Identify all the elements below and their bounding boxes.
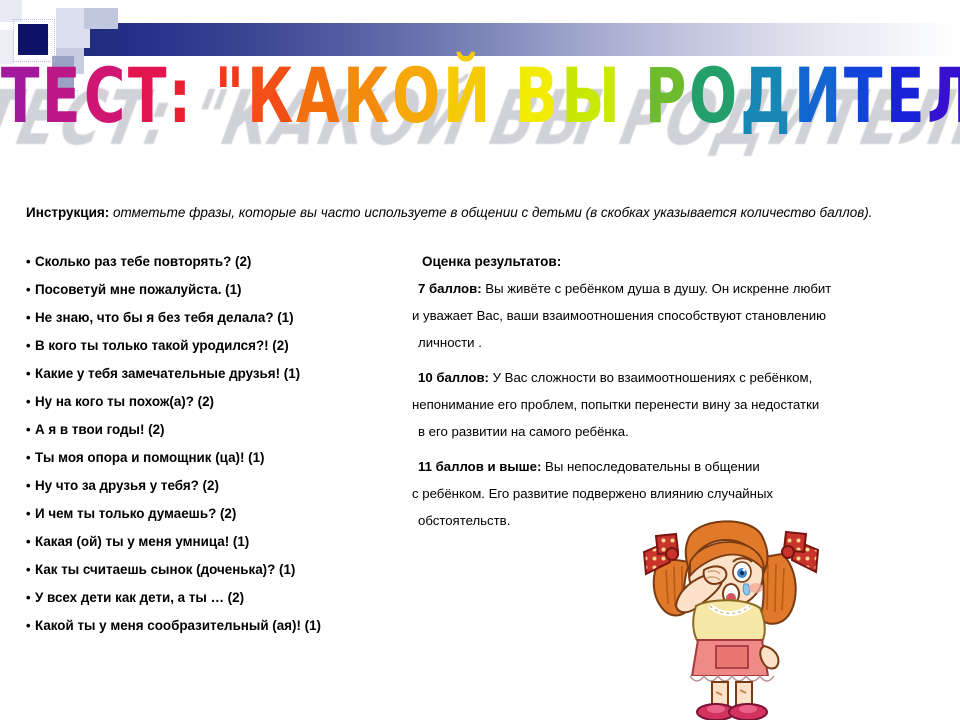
result-text: непонимание его проблем, попытки перенес… — [412, 397, 819, 412]
title-letter: Л — [927, 58, 960, 134]
tear — [743, 584, 750, 595]
question-item[interactable]: •Ну что за друзья у тебя? (2) — [26, 479, 426, 507]
bullet-icon: • — [26, 563, 35, 576]
bullet-icon: • — [26, 423, 35, 436]
title-letter: Ы — [561, 58, 621, 134]
question-text: И чем ты только думаешь? (2) — [35, 506, 236, 521]
banner-square-light-1 — [56, 8, 90, 48]
question-item[interactable]: •Сколько раз тебе повторять? (2) — [26, 255, 426, 283]
blush — [749, 583, 763, 593]
title-letter: К — [343, 58, 390, 134]
crying-girl-illustration — [632, 500, 832, 720]
bullet-icon: • — [26, 591, 35, 604]
bullet-icon: • — [26, 619, 35, 632]
title-letter: Р — [645, 58, 687, 134]
question-item[interactable]: •Не знаю, что бы я без тебя делала? (1) — [26, 311, 426, 339]
question-text: Ты моя опора и помощник (ца)! (1) — [35, 450, 265, 465]
bullet-icon: • — [26, 367, 35, 380]
bullet-icon: • — [26, 283, 35, 296]
result-text: в его развитии на самого ребёнка. — [418, 424, 629, 439]
title-letter — [493, 58, 514, 134]
instruction-paragraph: Инструкция: отметьте фразы, которые вы ч… — [26, 203, 926, 224]
question-text: Как ты считаешь сынок (доченька)? (1) — [35, 562, 295, 577]
result-line: личности . — [418, 336, 952, 363]
shirt — [693, 600, 765, 642]
title-letter: Д — [740, 58, 791, 134]
skirt-ruffle — [690, 676, 774, 681]
results-heading: Оценка результатов: — [422, 255, 952, 269]
question-list: •Сколько раз тебе повторять? (2)•Посовет… — [26, 255, 426, 647]
question-item[interactable]: •Какой ты у меня сообразительный (ая)! (… — [26, 619, 426, 647]
result-score-label: 7 баллов: — [418, 281, 482, 296]
question-item[interactable]: •Как ты считаешь сынок (доченька)? (1) — [26, 563, 426, 591]
title-letter: Т — [1, 58, 41, 134]
result-text: и уважает Вас, ваши взаимоотношения спос… — [412, 308, 826, 323]
question-item[interactable]: •А я в твои годы! (2) — [26, 423, 426, 451]
bullet-icon: • — [26, 311, 35, 324]
bullet-icon: • — [26, 339, 35, 352]
banner-square-pale-1 — [0, 0, 22, 22]
result-line: в его развитии на самого ребёнка. — [418, 425, 952, 452]
result-text: Вы непоследовательны в общении — [541, 459, 759, 474]
question-item[interactable]: •И чем ты только думаешь? (2) — [26, 507, 426, 535]
title-letter: Т — [128, 58, 168, 134]
bullet-icon: • — [26, 535, 35, 548]
question-text: Какая (ой) ты у меня умница! (1) — [35, 534, 249, 549]
title-letter: Е — [42, 58, 82, 134]
result-score-label: 11 баллов и выше: — [418, 459, 541, 474]
question-text: Ну на кого ты похож(а)? (2) — [35, 394, 214, 409]
bullet-icon: • — [26, 507, 35, 520]
question-item[interactable]: •Ты моя опора и помощник (ца)! (1) — [26, 451, 426, 479]
instruction-body: отметьте фразы, которые вы часто использ… — [109, 205, 872, 220]
bullet-icon: • — [26, 451, 35, 464]
question-item[interactable]: •Ну на кого ты похож(а)? (2) — [26, 395, 426, 423]
title-letter: Й — [443, 58, 491, 134]
title-letter — [193, 58, 214, 134]
title-letter: И — [794, 58, 842, 134]
page-title: ТЕСТ: "КАКОЙ ВЫ РОДИТЕЛЬ?" ТЕСТ: "КАКОЙ … — [0, 58, 960, 158]
question-item[interactable]: •В кого ты только такой уродился?! (2) — [26, 339, 426, 367]
result-text: Вы живёте с ребёнком душа в душу. Он иск… — [482, 281, 832, 296]
question-text: Ну что за друзья у тебя? (2) — [35, 478, 219, 493]
title-letter: Е — [885, 58, 925, 134]
question-item[interactable]: •Какие у тебя замечательные друзья! (1) — [26, 367, 426, 395]
skirt-pocket — [716, 646, 748, 668]
result-text: с ребёнком. Его развитие подвержено влия… — [412, 486, 773, 501]
result-text: У Вас сложности во взаимоотношениях с ре… — [489, 370, 812, 385]
title-letter — [623, 58, 644, 134]
title-letter: Т — [844, 58, 884, 134]
question-item[interactable]: •Посоветуй мне пожалуйста. (1) — [26, 283, 426, 311]
title-letter: О — [392, 58, 441, 134]
title-letter: О — [689, 58, 738, 134]
result-line: непонимание его проблем, попытки перенес… — [412, 398, 952, 425]
bullet-icon: • — [26, 479, 35, 492]
result-block: 7 баллов: Вы живёте с ребёнком душа в ду… — [412, 282, 952, 363]
result-score-label: 10 баллов: — [418, 370, 489, 385]
title-letter: " — [215, 58, 245, 134]
question-item[interactable]: •У всех дети как дети, а ты … (2) — [26, 591, 426, 619]
result-text: обстоятельств. — [418, 513, 510, 528]
question-text: Какой ты у меня сообразительный (ая)! (1… — [35, 618, 321, 633]
result-line: 11 баллов и выше: Вы непоследовательны в… — [418, 460, 952, 487]
banner-square-accent — [18, 24, 48, 55]
title-letter: К — [247, 58, 294, 134]
question-text: Посоветуй мне пожалуйста. (1) — [35, 282, 242, 297]
result-text: личности . — [418, 335, 482, 350]
result-line: 10 баллов: У Вас сложности во взаимоотно… — [418, 371, 952, 398]
question-text: А я в твои годы! (2) — [35, 422, 165, 437]
question-text: Сколько раз тебе повторять? (2) — [35, 254, 251, 269]
bullet-icon: • — [26, 395, 35, 408]
page-title-text: ТЕСТ: "КАКОЙ ВЫ РОДИТЕЛЬ?" — [0, 58, 960, 117]
title-letter: В — [515, 58, 559, 134]
question-text: Не знаю, что бы я без тебя делала? (1) — [35, 310, 294, 325]
bullet-icon: • — [26, 255, 35, 268]
question-item[interactable]: •Какая (ой) ты у меня умница! (1) — [26, 535, 426, 563]
instruction-label: Инструкция: — [26, 205, 109, 220]
result-line: 7 баллов: Вы живёте с ребёнком душа в ду… — [418, 282, 952, 309]
question-text: У всех дети как дети, а ты … (2) — [35, 590, 244, 605]
question-text: Какие у тебя замечательные друзья! (1) — [35, 366, 300, 381]
title-letter: С — [83, 58, 126, 134]
result-line: и уважает Вас, ваши взаимоотношения спос… — [412, 309, 952, 336]
title-letter: А — [296, 58, 341, 134]
title-letter: : — [169, 58, 193, 134]
banner-square-light-2 — [84, 8, 118, 29]
result-block: 10 баллов: У Вас сложности во взаимоотно… — [412, 371, 952, 452]
question-text: В кого ты только такой уродился?! (2) — [35, 338, 289, 353]
fist — [704, 566, 727, 584]
